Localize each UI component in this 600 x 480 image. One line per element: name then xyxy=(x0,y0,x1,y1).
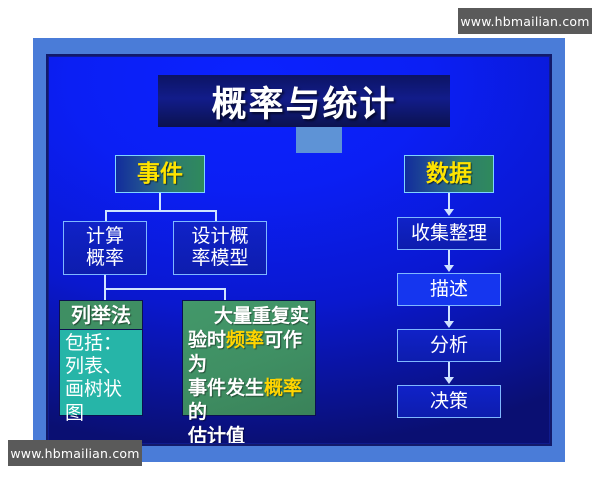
node-design-probability-model-label: 设计概率模型 xyxy=(188,226,252,270)
node-collect-organize[interactable]: 收集整理 xyxy=(397,217,501,250)
page-title: 概率与统计 xyxy=(158,75,450,127)
connector-method-drop xyxy=(104,288,106,300)
arrow-analyze-to-decide xyxy=(444,377,454,384)
arrow-collect-to-describe xyxy=(444,265,454,272)
watermark-top-right: www.hbmailian.com xyxy=(458,8,592,34)
arrow-data-to-collect xyxy=(444,209,454,216)
watermark-bottom-left: www.hbmailian.com xyxy=(8,440,142,466)
node-decide-label: 决策 xyxy=(430,391,468,413)
node-describe[interactable]: 描述 xyxy=(397,273,501,306)
note-line2-a: 验时 xyxy=(188,329,226,351)
node-analyze-label: 分析 xyxy=(430,335,468,357)
watermark-top-text: www.hbmailian.com xyxy=(460,14,589,29)
arrow-describe-to-analyze xyxy=(444,321,454,328)
node-events-label: 事件 xyxy=(137,161,183,187)
node-enumeration-body[interactable]: 包括：列表、画树状图 xyxy=(59,330,143,416)
node-enumeration-header[interactable]: 列举法 xyxy=(59,300,143,330)
note-line1: 大量重复实 xyxy=(214,305,309,327)
note-keyword-frequency: 频率 xyxy=(226,329,264,351)
node-calculate-probability-label: 计算概率 xyxy=(78,226,132,270)
node-frequency-note-text: 大量重复实 验时频率可作为 事件发生概率的 估计值 xyxy=(188,305,310,443)
node-events-header[interactable]: 事件 xyxy=(115,155,205,193)
connector-calc-stem xyxy=(104,275,106,289)
node-decide[interactable]: 决策 xyxy=(397,385,501,418)
note-line3-a: 事件发生 xyxy=(188,377,264,399)
slide-canvas: 概率与统计 事件 计算概率 设计概率模型 列举法 包括：列表、画树状图 大量重复… xyxy=(49,57,549,443)
connector-note-drop xyxy=(224,288,226,300)
node-frequency-note[interactable]: 大量重复实 验时频率可作为 事件发生概率的 估计值 xyxy=(182,300,316,416)
node-enumeration-label: 列举法 xyxy=(71,304,131,327)
note-keyword-probability: 概率 xyxy=(264,377,302,399)
connector-events-stem xyxy=(159,193,161,211)
note-line3-b: 的 xyxy=(188,401,207,423)
node-design-probability-model[interactable]: 设计概率模型 xyxy=(173,221,267,275)
node-data-header[interactable]: 数据 xyxy=(404,155,494,193)
connector-bottom-bar xyxy=(104,288,226,290)
watermark-bottom-text: www.hbmailian.com xyxy=(10,446,139,461)
node-describe-label: 描述 xyxy=(430,279,468,301)
connector-events-bar xyxy=(105,210,217,212)
node-data-label: 数据 xyxy=(426,161,472,187)
node-collect-organize-label: 收集整理 xyxy=(411,223,487,245)
node-enumeration-body-text: 包括：列表、画树状图 xyxy=(65,332,138,425)
node-calculate-probability[interactable]: 计算概率 xyxy=(63,221,147,275)
note-line4: 估计值 xyxy=(188,425,245,443)
node-analyze[interactable]: 分析 xyxy=(397,329,501,362)
